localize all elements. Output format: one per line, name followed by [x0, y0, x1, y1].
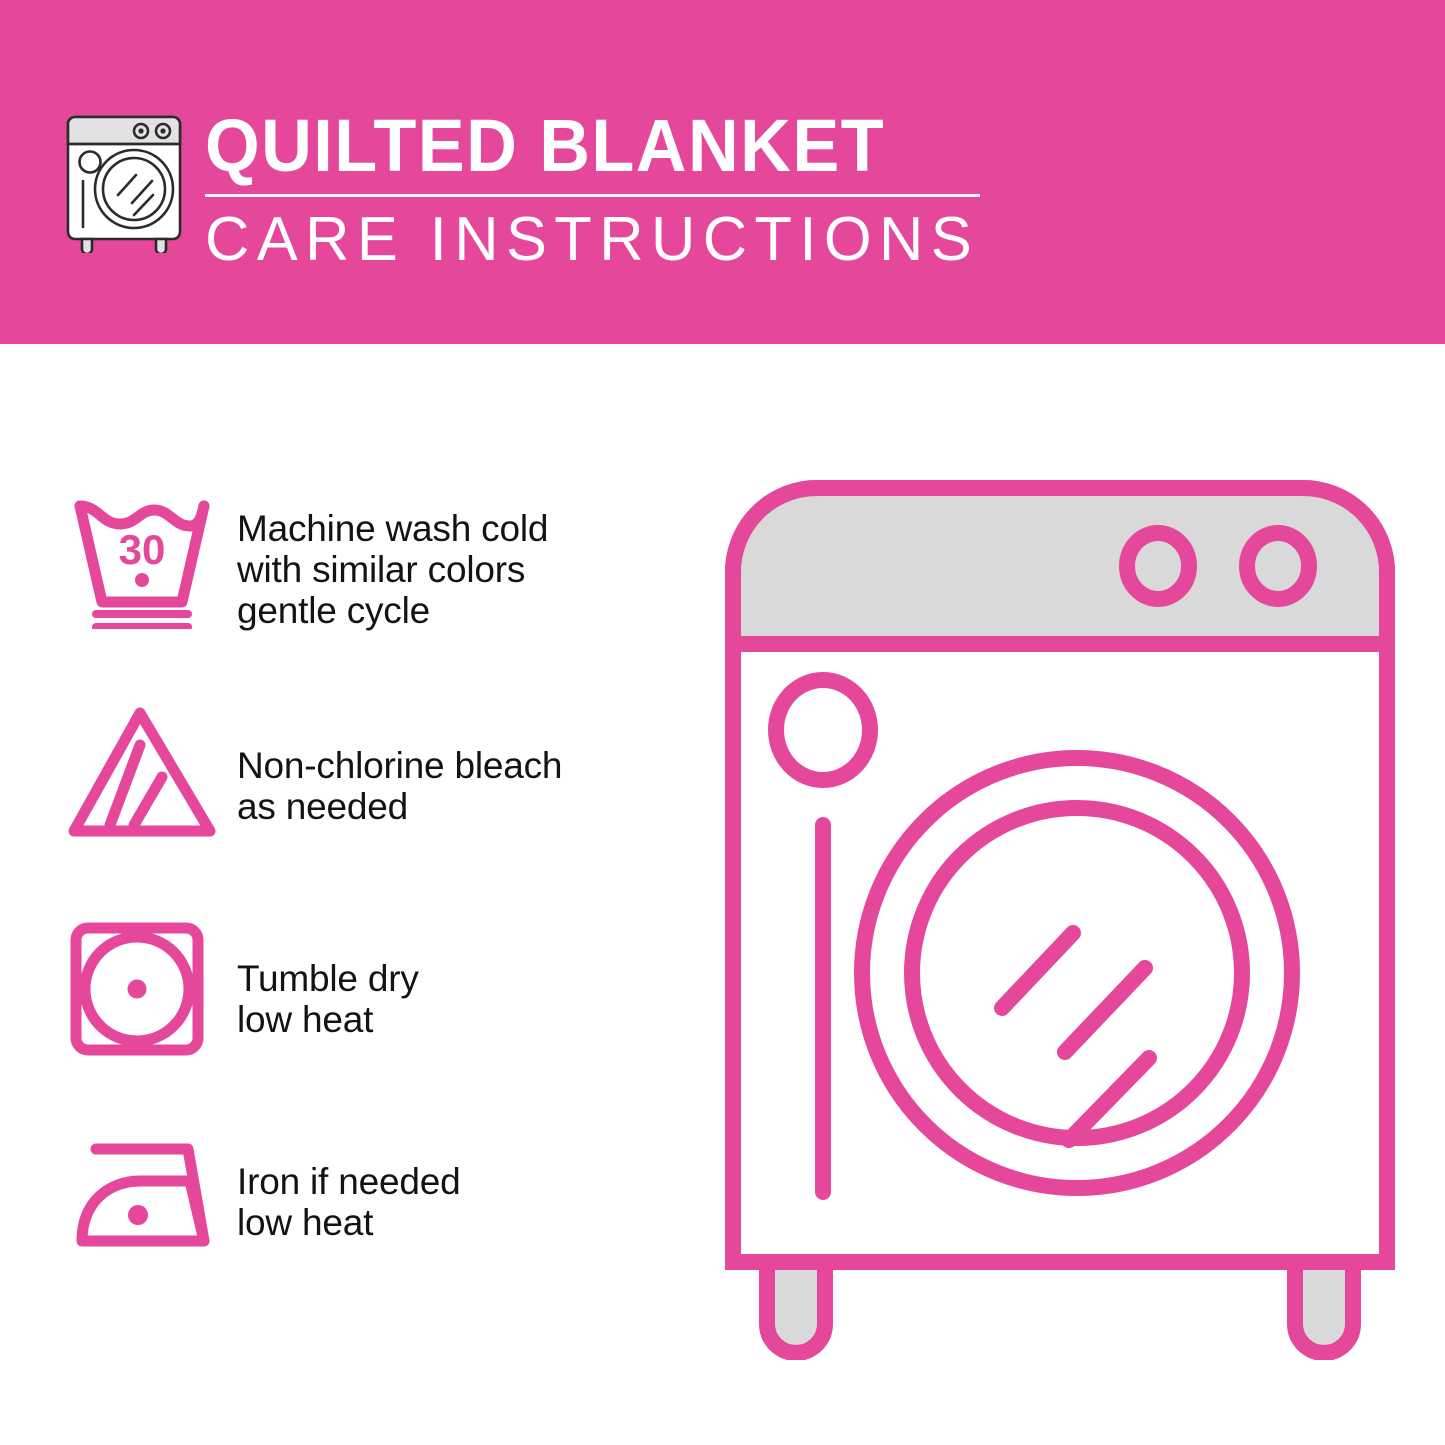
tumble-dry-low-heat-icon [62, 908, 237, 1064]
instruction-line: with similar colors [237, 549, 692, 590]
instruction-list: 30 Machine wash cold with similar colors… [62, 478, 692, 1338]
wash-tub-30-gentle-icon: 30 [62, 478, 237, 629]
non-chlorine-bleach-triangle-icon [62, 693, 237, 849]
care-instructions-page: QUILTED BLANKET CARE INSTRUCTIONS 30 [0, 0, 1445, 1445]
instruction-line: Tumble dry [237, 958, 692, 999]
instruction-line: low heat [237, 1202, 692, 1243]
header-text-block: QUILTED BLANKET CARE INSTRUCTIONS [205, 106, 985, 274]
header-banner: QUILTED BLANKET CARE INSTRUCTIONS [0, 0, 1445, 344]
page-title: QUILTED BLANKET [205, 106, 946, 186]
page-subtitle: CARE INSTRUCTIONS [205, 206, 977, 274]
instruction-text-bleach: Non-chlorine bleach as needed [237, 693, 692, 827]
instruction-line: Non-chlorine bleach [237, 745, 692, 786]
instruction-row-bleach: Non-chlorine bleach as needed [62, 693, 692, 908]
washing-machine-icon [60, 103, 192, 253]
instruction-line: low heat [237, 999, 692, 1040]
instruction-line: as needed [237, 786, 692, 827]
instruction-row-iron: Iron if needed low heat [62, 1123, 692, 1338]
instruction-line: Machine wash cold [237, 508, 692, 549]
title-divider [205, 194, 980, 197]
instruction-text-iron: Iron if needed low heat [237, 1123, 692, 1243]
front-load-washing-machine-illustration [725, 480, 1395, 1360]
instruction-line: Iron if needed [237, 1161, 692, 1202]
instruction-text-wash: Machine wash cold with similar colors ge… [237, 478, 692, 631]
wash-temperature-label: 30 [119, 526, 166, 573]
instruction-line: gentle cycle [237, 590, 692, 631]
instruction-text-tumble-dry: Tumble dry low heat [237, 908, 692, 1040]
instruction-row-wash: 30 Machine wash cold with similar colors… [62, 478, 692, 693]
instruction-row-tumble-dry: Tumble dry low heat [62, 908, 692, 1123]
iron-low-heat-icon [62, 1123, 237, 1259]
